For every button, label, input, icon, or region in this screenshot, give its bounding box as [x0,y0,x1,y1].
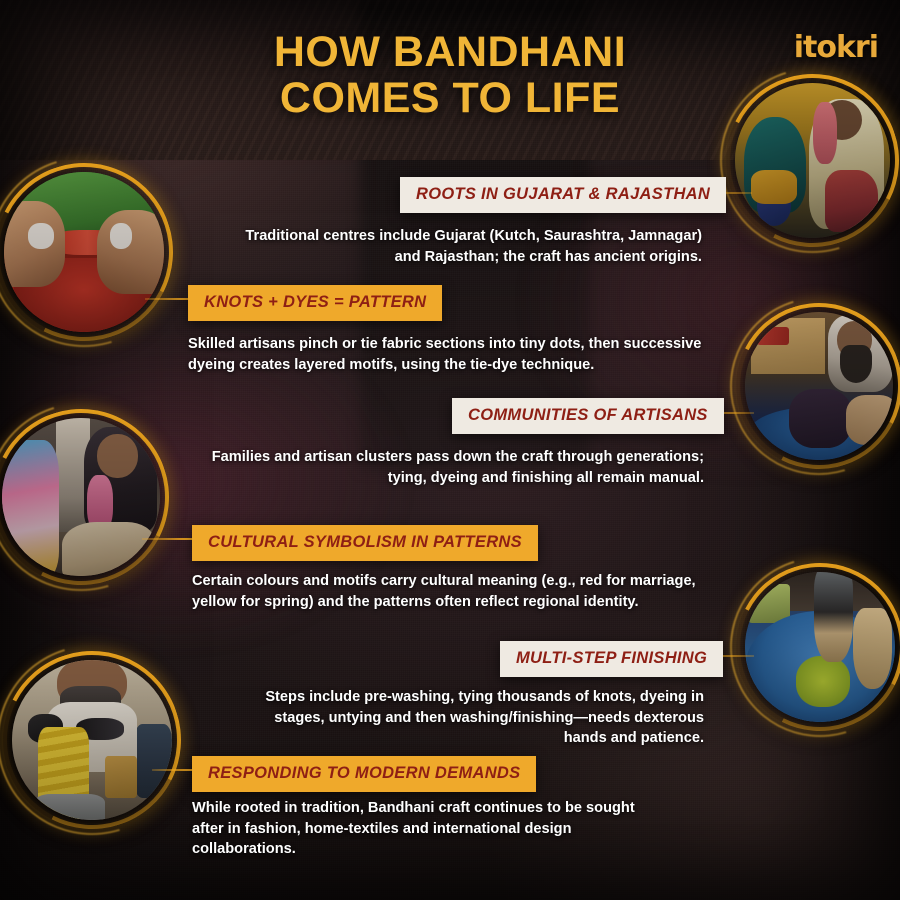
section-body-communities: Families and artisan clusters pass down … [200,447,704,488]
section-body-modern-demands: While rooted in tradition, Bandhani craf… [192,798,662,860]
section-label-multi-step-finishing: MULTI-STEP FINISHING [500,641,723,677]
section-label-knots-dyes: KNOTS + DYES = PATTERN [188,285,442,321]
photo-frame [2,418,160,576]
photo-women-tying [735,83,890,238]
photo-frame [745,572,895,722]
connector-cultural-symbolism [142,538,192,540]
photo-hands-red-fabric [4,172,164,332]
photo-frame [4,172,164,332]
section-body-multi-step-finishing: Steps include pre-washing, tying thousan… [252,687,704,749]
photo-frame [745,312,893,460]
photo-yellow-dyeing [12,660,172,820]
photo-indigo-vat [745,572,895,722]
page-title-line-2: COMES TO LIFE [160,76,740,122]
photo-artisans-cream [2,418,160,576]
section-body-roots: Traditional centres include Gujarat (Kut… [240,226,702,267]
connector-modern-demands [152,769,196,771]
photo-frame [12,660,172,820]
connector-knots-dyes [145,298,193,300]
section-body-knots-dyes: Skilled artisans pinch or tie fabric sec… [188,334,704,375]
photo-dyer-blue-vat [745,312,893,460]
page-title: HOW BANDHANI COMES TO LIFE [160,30,740,121]
infographic-canvas: HOW BANDHANI COMES TO LIFE itokri [0,0,900,900]
section-label-cultural-symbolism: CULTURAL SYMBOLISM IN PATTERNS [192,525,538,561]
section-label-modern-demands: RESPONDING TO MODERN DEMANDS [192,756,536,792]
brand-logo: itokri [794,30,878,65]
section-label-roots: ROOTS IN GUJARAT & RAJASTHAN [400,177,726,213]
section-body-cultural-symbolism: Certain colours and motifs carry cultura… [192,571,700,612]
page-title-line-1: HOW BANDHANI [160,30,740,76]
photo-frame [735,83,890,238]
section-label-communities: COMMUNITIES OF ARTISANS [452,398,724,434]
